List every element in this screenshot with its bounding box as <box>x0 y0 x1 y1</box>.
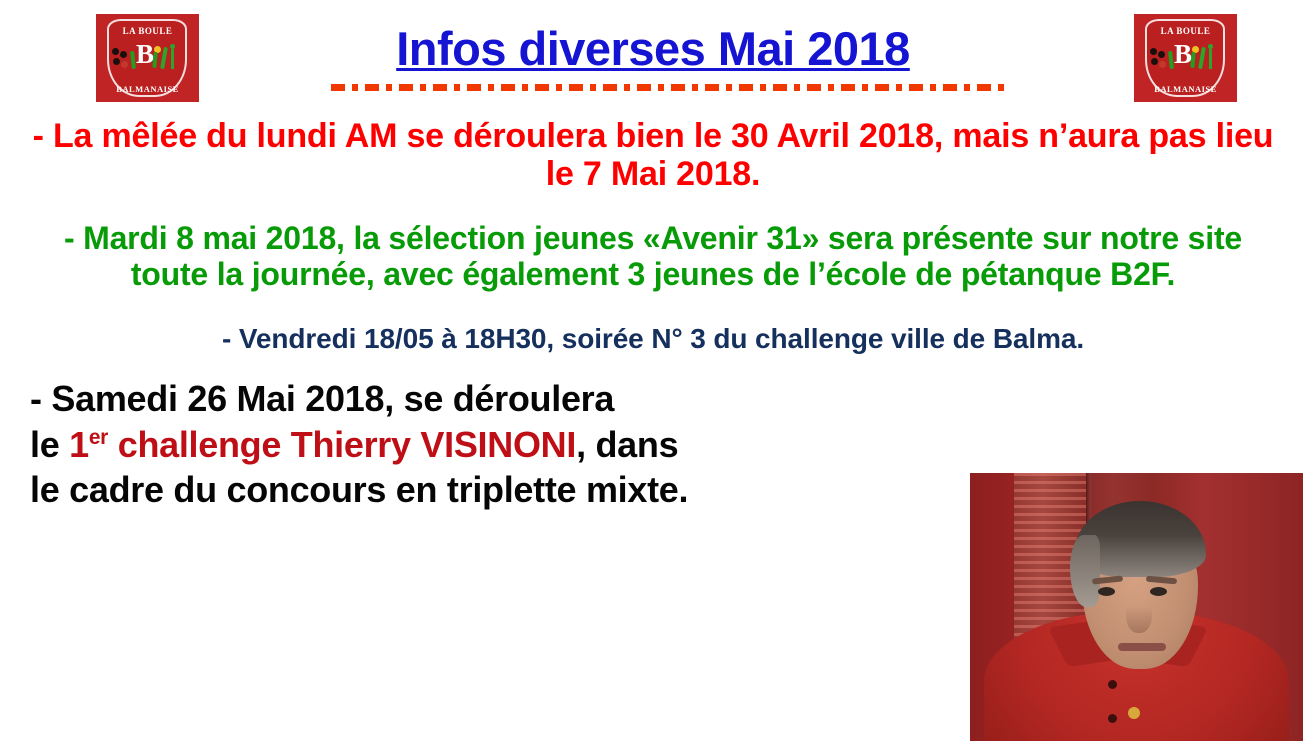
photo-mouth <box>1118 643 1166 651</box>
visinoni-highlight: challenge Thierry VISINONI <box>108 424 576 465</box>
photo-eye-left <box>1098 587 1115 596</box>
info-item-challenge-visinoni: - Samedi 26 Mai 2018, se déroulera le 1e… <box>0 354 980 512</box>
visinoni-line-2-suffix: , dans <box>576 424 678 465</box>
photo-hair-side <box>1070 535 1100 607</box>
photo-necklace-pendant <box>1128 707 1140 719</box>
info-item-melee-lundi: - La mêlée du lundi AM se déroulera bien… <box>0 112 1306 193</box>
logo-bottom-text: BALMANAISE <box>96 85 199 94</box>
photo-nose <box>1126 595 1152 633</box>
photo-shirt-button <box>1108 714 1117 723</box>
photo-eye-right <box>1150 587 1167 596</box>
page-title-wrap: Infos diverses Mai 2018 <box>0 24 1306 73</box>
info-item-soiree-challenge: - Vendredi 18/05 à 18H30, soirée N° 3 du… <box>0 293 1306 354</box>
visinoni-line-2-prefix: le <box>30 424 69 465</box>
visinoni-line-1: - Samedi 26 Mai 2018, se déroulera <box>30 378 614 419</box>
visinoni-ordinal-suffix: er <box>89 426 108 449</box>
title-dashed-underline <box>331 84 1011 91</box>
logo-bottom-text: BALMANAISE <box>1134 85 1237 94</box>
header: LA BOULE B BALMANAISE LA BOULE <box>0 0 1306 112</box>
visinoni-ordinal-number: 1 <box>69 424 89 465</box>
info-item-selection-jeunes: - Mardi 8 mai 2018, la sélection jeunes … <box>0 193 1306 293</box>
photo-shirt-button <box>1108 680 1117 689</box>
visinoni-line-3: le cadre du concours en triplette mixte. <box>30 469 688 510</box>
page-title: Infos diverses Mai 2018 <box>396 24 910 73</box>
portrait-photo <box>970 473 1303 741</box>
content: - La mêlée du lundi AM se déroulera bien… <box>0 112 1306 512</box>
